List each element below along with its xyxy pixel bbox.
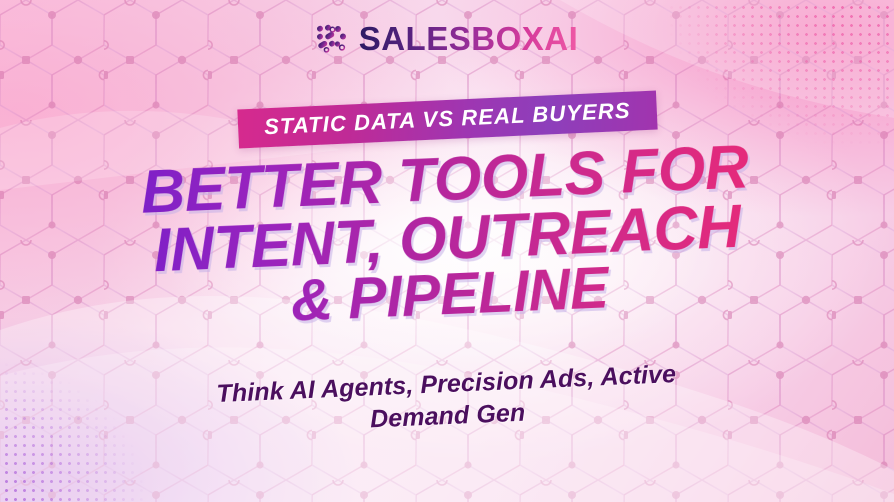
salesboxai-node-cluster-icon <box>316 24 348 54</box>
eyebrow-badge-wrapper: STATIC DATA VS REAL BUYERS <box>0 100 894 139</box>
eyebrow-badge-label: STATIC DATA VS REAL BUYERS <box>263 99 630 139</box>
promo-banner: SALESBOXAI STATIC DATA VS REAL BUYERS BE… <box>0 0 894 502</box>
brand-logo[interactable]: SALESBOXAI <box>0 22 894 55</box>
brand-name: SALESBOXAI <box>359 22 579 55</box>
